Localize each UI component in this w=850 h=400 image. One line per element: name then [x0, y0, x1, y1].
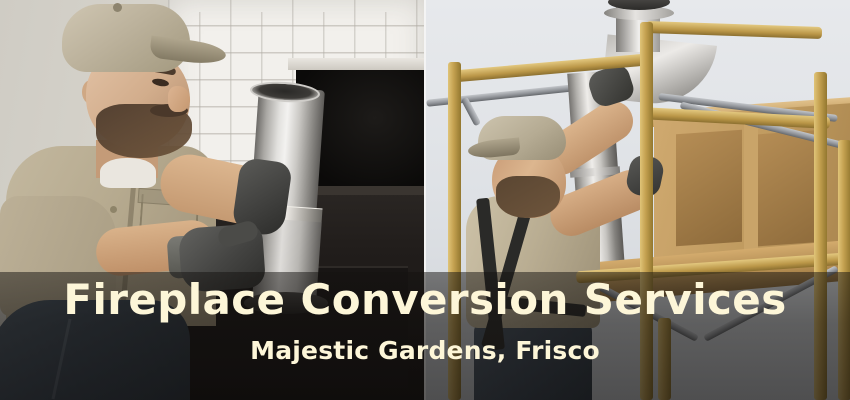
banner-title: Fireplace Conversion Services [0, 278, 850, 322]
banner-subtitle: Majestic Gardens, Frisco [0, 336, 850, 365]
shirt-button [110, 206, 117, 213]
caption-block: Fireplace Conversion Services Majestic G… [0, 278, 850, 365]
service-banner: Fireplace Conversion Services Majestic G… [0, 0, 850, 400]
worker-beard [496, 176, 560, 218]
cap-button [113, 3, 122, 12]
undershirt [100, 158, 156, 188]
worker-nose [168, 86, 190, 112]
chase-stud [744, 118, 758, 259]
chase-inner-bay [676, 130, 742, 247]
firebox-lintel [288, 58, 424, 70]
